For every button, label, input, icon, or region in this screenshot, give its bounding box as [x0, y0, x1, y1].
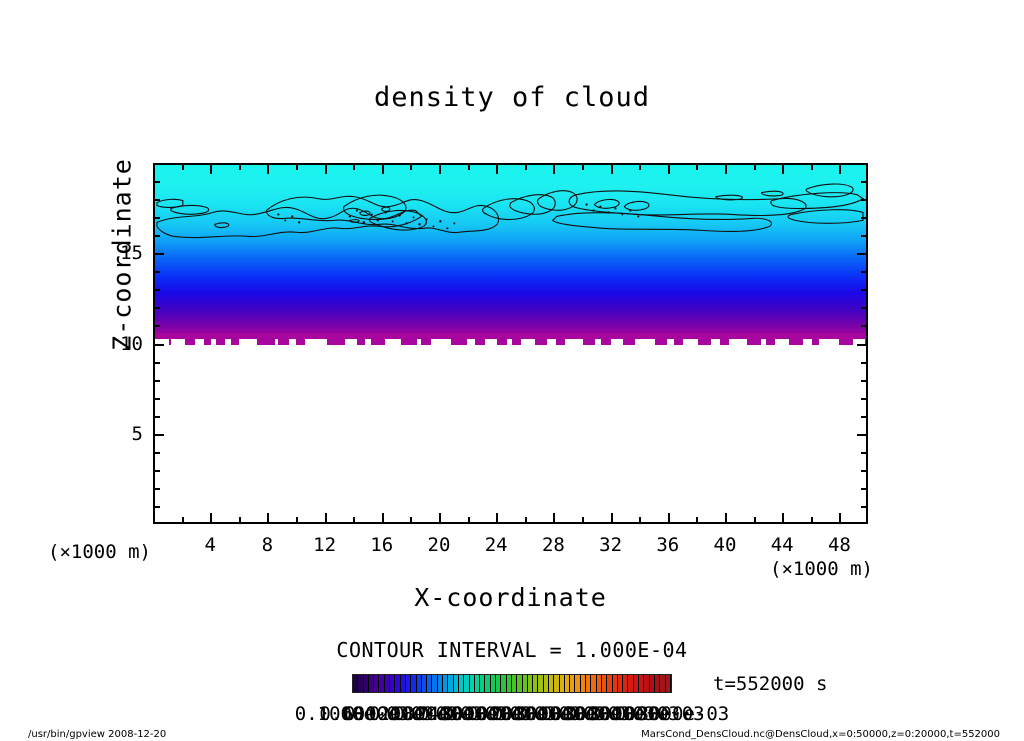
- x-tick-top: [382, 163, 384, 174]
- x-tick-top: [410, 163, 412, 170]
- x-tick-label: 36: [656, 534, 679, 556]
- x-tick-label: 4: [204, 534, 215, 556]
- x-tick-minor: [325, 513, 327, 524]
- page-title: density of cloud: [0, 82, 1024, 113]
- y-tick-minor: [153, 506, 160, 508]
- y-tick-minor: [153, 416, 160, 418]
- x-tick-minor: [239, 517, 241, 524]
- x-tick-top: [296, 163, 298, 170]
- x-tick-minor: [410, 517, 412, 524]
- y-tick-right: [861, 307, 868, 309]
- x-tick-top: [696, 163, 698, 170]
- y-tick-right: [857, 344, 868, 346]
- x-tick-label: 40: [714, 534, 737, 556]
- y-tick-right: [857, 253, 868, 255]
- x-tick-minor: [210, 513, 212, 524]
- x-tick-top: [754, 163, 756, 170]
- y-tick-right: [861, 488, 868, 490]
- y-tick-minor: [153, 470, 160, 472]
- x-tick-minor: [468, 517, 470, 524]
- y-tick-minor: [153, 434, 164, 436]
- x-tick-minor: [725, 513, 727, 524]
- x-tick-top: [668, 163, 670, 174]
- x-tick-top: [439, 163, 441, 174]
- x-tick-top: [325, 163, 327, 174]
- time-label: t=552000 s: [713, 673, 827, 695]
- y-tick-right: [861, 506, 868, 508]
- x-tick-top: [639, 163, 641, 170]
- y-tick-right: [861, 199, 868, 201]
- x-tick-minor: [611, 513, 613, 524]
- x-tick-minor: [182, 517, 184, 524]
- y-tick-minor: [153, 217, 160, 219]
- colorbar-tick-label: 0.3000e-03: [615, 703, 729, 725]
- colorbar-tick-labels: 0.1000e-030.6000e-030.1200e-030.1800e-03…: [0, 703, 1024, 727]
- x-tick-top: [611, 163, 613, 174]
- x-tick-top: [582, 163, 584, 170]
- x-tick-label: 44: [771, 534, 794, 556]
- x-tick-minor: [696, 517, 698, 524]
- y-tick-minor: [153, 380, 160, 382]
- x-tick-minor: [267, 513, 269, 524]
- x-tick-minor: [382, 513, 384, 524]
- x-tick-label: 16: [370, 534, 393, 556]
- x-tick-top: [782, 163, 784, 174]
- x-tick-top: [496, 163, 498, 174]
- y-tick-right: [861, 380, 868, 382]
- y-tick-right: [861, 235, 868, 237]
- plot-area: [153, 163, 868, 524]
- x-tick-minor: [496, 513, 498, 524]
- x-tick-minor: [782, 513, 784, 524]
- colorbar-cell: [666, 675, 671, 692]
- contour-lines: [155, 165, 866, 522]
- x-tick-minor: [839, 513, 841, 524]
- y-axis-unit-label: (×1000 m): [48, 541, 151, 563]
- y-tick-minor: [153, 398, 160, 400]
- x-tick-minor: [296, 517, 298, 524]
- y-tick-right: [861, 452, 868, 454]
- x-axis-unit-label: (×1000 m): [770, 558, 873, 580]
- colorbar[interactable]: [352, 674, 672, 693]
- x-tick-top: [182, 163, 184, 170]
- y-tick-minor: [153, 325, 160, 327]
- y-tick-minor: [153, 199, 160, 201]
- y-tick-minor: [153, 344, 164, 346]
- y-tick-right: [861, 398, 868, 400]
- x-tick-top: [525, 163, 527, 170]
- x-tick-minor: [668, 513, 670, 524]
- x-tick-label: 32: [599, 534, 622, 556]
- y-tick-right: [861, 289, 868, 291]
- y-tick-minor: [153, 253, 164, 255]
- x-tick-top: [811, 163, 813, 170]
- y-tick-label: 5: [95, 423, 143, 445]
- contour-interval-label: CONTOUR INTERVAL = 1.000E-04: [0, 638, 1024, 662]
- y-tick-minor: [153, 181, 160, 183]
- y-tick-minor: [153, 271, 160, 273]
- y-tick-minor: [153, 362, 160, 364]
- x-tick-minor: [525, 517, 527, 524]
- y-tick-right: [861, 325, 868, 327]
- x-tick-minor: [439, 513, 441, 524]
- x-tick-top: [210, 163, 212, 174]
- x-tick-top: [353, 163, 355, 170]
- y-tick-minor: [153, 289, 160, 291]
- x-tick-minor: [353, 517, 355, 524]
- y-tick-minor: [153, 488, 160, 490]
- x-tick-label: 24: [485, 534, 508, 556]
- y-tick-right: [861, 217, 868, 219]
- x-tick-label: 8: [262, 534, 273, 556]
- x-tick-minor: [639, 517, 641, 524]
- y-tick-right: [861, 470, 868, 472]
- footer-command-text: /usr/bin/gpview 2008-12-20: [28, 729, 166, 740]
- y-tick-right: [861, 271, 868, 273]
- x-axis-title: X-coordinate: [153, 583, 868, 612]
- x-tick-label: 20: [428, 534, 451, 556]
- x-tick-top: [267, 163, 269, 174]
- x-tick-top: [553, 163, 555, 174]
- x-tick-top: [725, 163, 727, 174]
- y-tick-minor: [153, 452, 160, 454]
- x-tick-label: 28: [542, 534, 565, 556]
- y-axis-title: Z-coordinate: [108, 125, 137, 385]
- y-tick-right: [861, 416, 868, 418]
- x-tick-top: [468, 163, 470, 170]
- x-tick-top: [239, 163, 241, 170]
- x-tick-label: 12: [313, 534, 336, 556]
- y-tick-minor: [153, 307, 160, 309]
- y-tick-right: [857, 434, 868, 436]
- x-tick-label: 48: [828, 534, 851, 556]
- x-tick-top: [839, 163, 841, 174]
- x-tick-minor: [582, 517, 584, 524]
- y-tick-minor: [153, 235, 160, 237]
- x-tick-minor: [553, 513, 555, 524]
- footer-source-text: MarsCond_DensCloud.nc@DensCloud,x=0:5000…: [641, 729, 1000, 740]
- y-tick-right: [861, 362, 868, 364]
- x-tick-minor: [811, 517, 813, 524]
- x-tick-minor: [754, 517, 756, 524]
- y-tick-right: [861, 181, 868, 183]
